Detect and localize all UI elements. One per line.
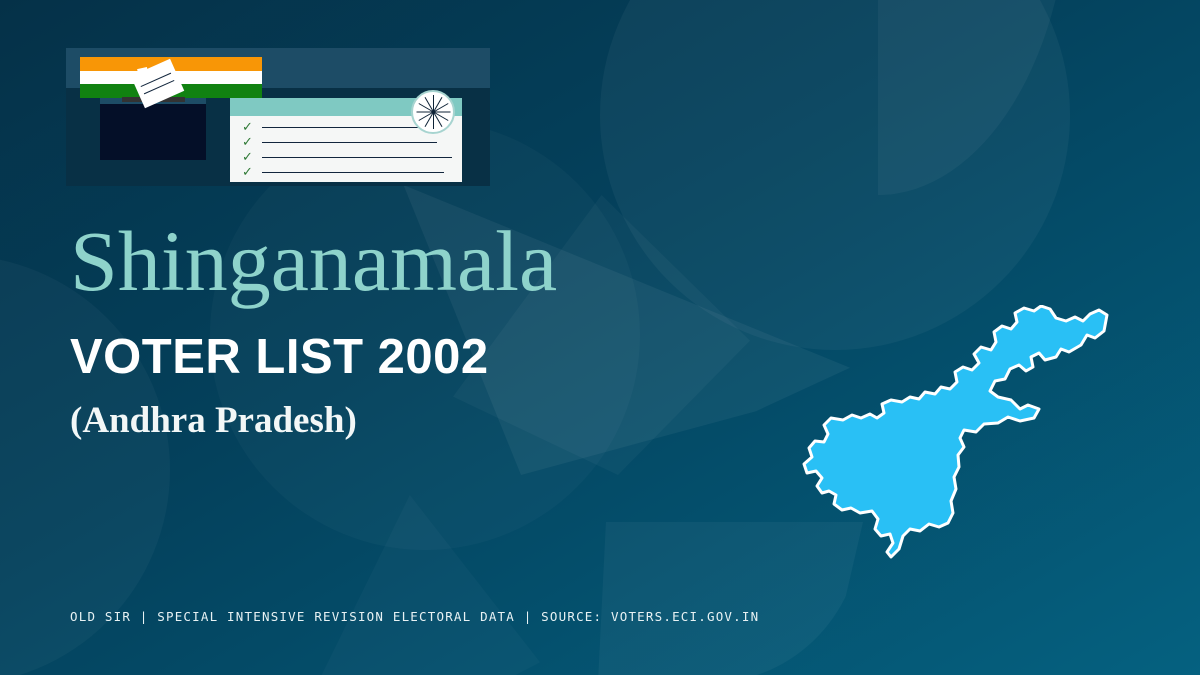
decor-circle-large [600, 0, 1070, 350]
footer-caption: OLD SIR | SPECIAL INTENSIVE REVISION ELE… [70, 609, 759, 624]
checklist-line [262, 142, 437, 143]
check-icon: ✓ [242, 167, 253, 178]
checklist-line [262, 157, 452, 158]
check-icon: ✓ [242, 137, 253, 148]
checklist-line [262, 172, 444, 173]
checklist-row: ✓ [230, 165, 462, 180]
andhra-pradesh-map-shape [804, 306, 1107, 557]
checklist-row: ✓ [230, 150, 462, 165]
decor-arrow-shard-c [230, 495, 540, 675]
check-icon: ✓ [242, 122, 253, 133]
ballot-illustration: ✓ ✓ ✓ ✓ [66, 48, 490, 186]
checklist-row: ✓ [230, 135, 462, 150]
poster-canvas: ✓ ✓ ✓ ✓ Shinganamala VOTER LIST 20 [0, 0, 1200, 675]
ballot-paper-fold [137, 67, 148, 75]
chakra-spoke [433, 112, 434, 129]
decor-circle-quadrant [878, 0, 1070, 195]
ballot-box-front [100, 104, 206, 160]
page-region: (Andhra Pradesh) [70, 402, 357, 439]
andhra-pradesh-map [798, 305, 1128, 595]
check-icon: ✓ [242, 152, 253, 163]
ashoka-chakra-icon [411, 90, 455, 134]
ballot-paper-line [141, 73, 172, 87]
page-subtitle: VOTER LIST 2002 [70, 333, 489, 382]
page-title: Shinganamala [70, 218, 557, 304]
